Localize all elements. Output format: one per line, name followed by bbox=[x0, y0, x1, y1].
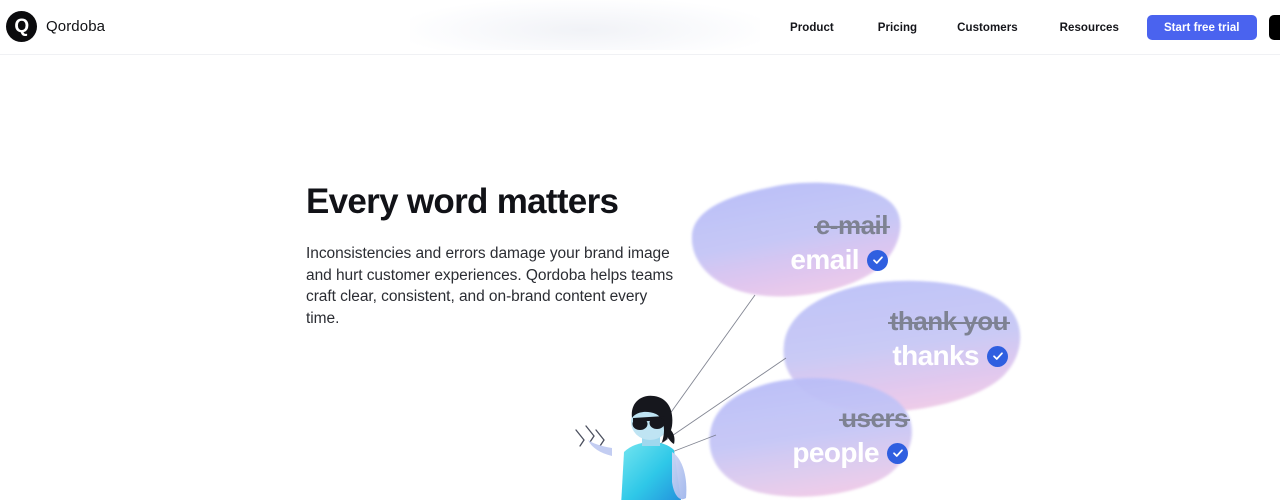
site-header: Q Qordoba Product Pricing Customers Reso… bbox=[0, 0, 1280, 55]
hero-copy: Every word matters Inconsistencies and e… bbox=[306, 182, 676, 329]
sign-in-button[interactable]: Sign in bbox=[1269, 15, 1280, 40]
nav-item-pricing[interactable]: Pricing bbox=[878, 16, 917, 40]
primary-navigation: Product Pricing Customers Resources Star… bbox=[790, 0, 1280, 55]
hero-subcopy: Inconsistencies and errors damage your b… bbox=[306, 243, 676, 329]
nav-item-product[interactable]: Product bbox=[790, 16, 834, 40]
header-background-tint bbox=[410, 0, 760, 50]
nav-item-customers[interactable]: Customers bbox=[957, 16, 1018, 40]
brand-name: Qordoba bbox=[46, 18, 105, 35]
brand-logo[interactable]: Q Qordoba bbox=[6, 11, 105, 42]
qordoba-logo-icon: Q bbox=[6, 11, 37, 42]
nav-item-resources[interactable]: Resources bbox=[1060, 16, 1119, 40]
start-free-trial-button[interactable]: Start free trial bbox=[1147, 15, 1257, 40]
hero-section: Every word matters Inconsistencies and e… bbox=[0, 55, 1280, 500]
hero-headline: Every word matters bbox=[306, 182, 676, 222]
